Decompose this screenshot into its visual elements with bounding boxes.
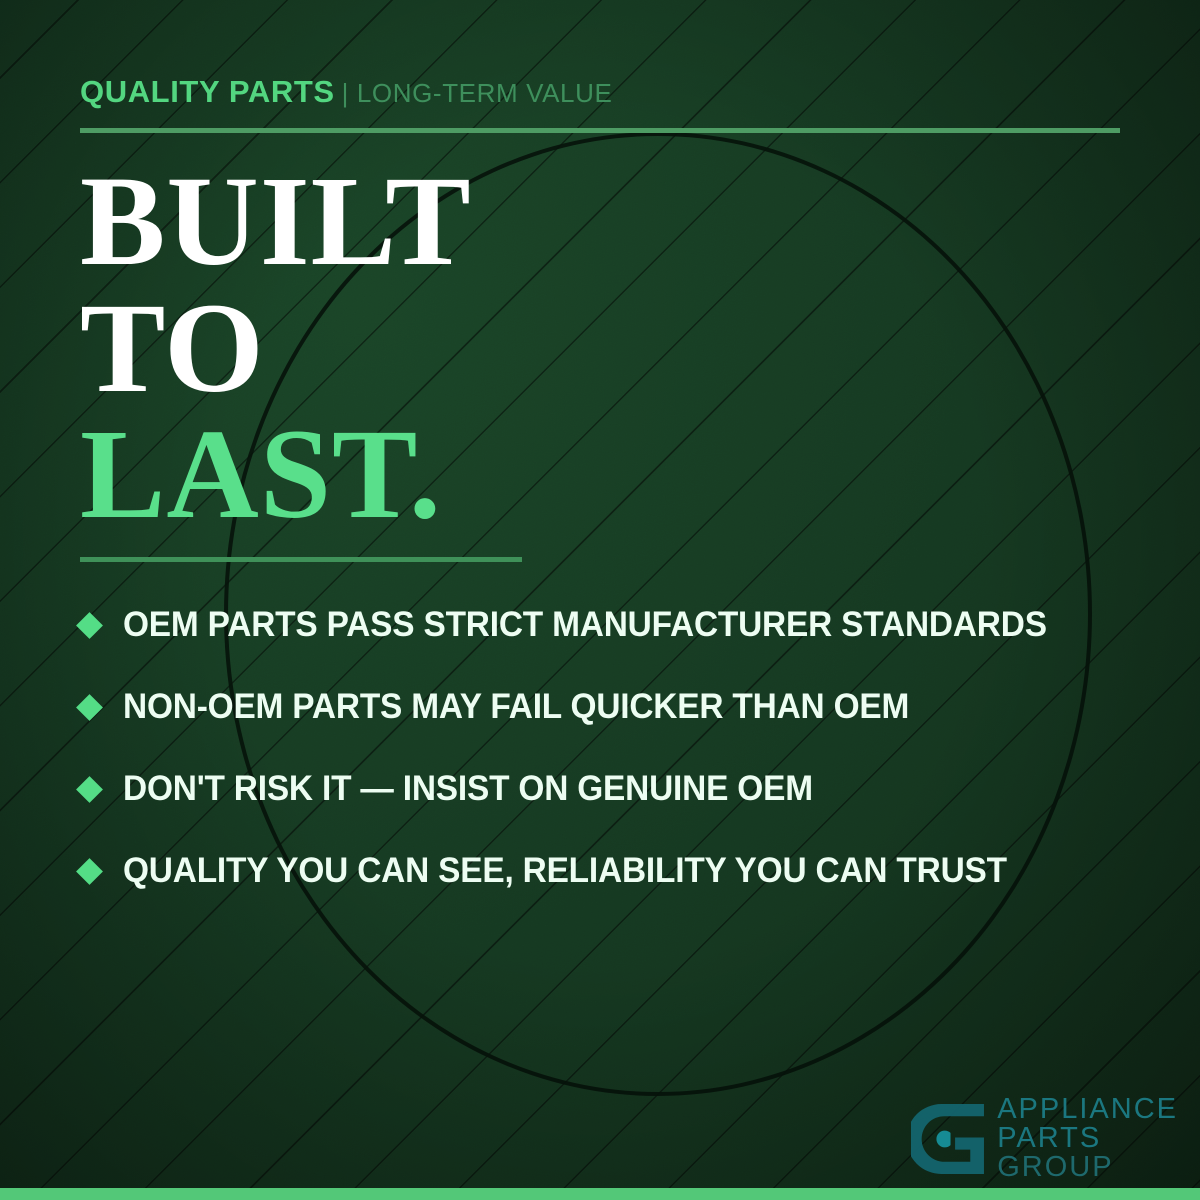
headline-line-1: BUILT xyxy=(80,158,472,285)
list-item: QUALITY YOU CAN SEE, RELIABILITY YOU CAN… xyxy=(80,830,1140,912)
list-item: OEM PARTS PASS STRICT MANUFACTURER STAND… xyxy=(80,584,1140,666)
kicker-line: QUALITY PARTS| LONG-TERM VALUE xyxy=(80,74,612,110)
brand-logo-wordmark: APPLIANCE PARTS GROUP xyxy=(997,1095,1178,1182)
diamond-icon xyxy=(76,612,103,639)
kicker-main-label: QUALITY PARTS xyxy=(80,74,335,109)
bottom-accent-bar xyxy=(0,1188,1200,1200)
headline-line-2: TO xyxy=(80,285,472,412)
list-item: NON-OEM PARTS MAY FAIL QUICKER THAN OEM xyxy=(80,666,1140,748)
list-item: DON'T RISK IT — INSIST ON GENUINE OEM xyxy=(80,748,1140,830)
diamond-icon xyxy=(76,858,103,885)
brand-logo: APPLIANCE PARTS GROUP xyxy=(911,1095,1178,1182)
brand-word-line-3: GROUP xyxy=(997,1153,1178,1182)
list-item-label: QUALITY YOU CAN SEE, RELIABILITY YOU CAN… xyxy=(123,851,1007,891)
brand-word-line-2: PARTS xyxy=(997,1124,1178,1153)
list-item-label: NON-OEM PARTS MAY FAIL QUICKER THAN OEM xyxy=(123,687,909,727)
diamond-icon xyxy=(76,776,103,803)
brand-word-line-1: APPLIANCE xyxy=(997,1095,1178,1124)
poster-canvas: QUALITY PARTS| LONG-TERM VALUE BUILT TO … xyxy=(0,0,1200,1200)
benefit-list: OEM PARTS PASS STRICT MANUFACTURER STAND… xyxy=(80,584,1140,912)
list-item-label: OEM PARTS PASS STRICT MANUFACTURER STAND… xyxy=(123,605,1047,645)
list-item-label: DON'T RISK IT — INSIST ON GENUINE OEM xyxy=(123,769,813,809)
headline-block: BUILT TO LAST. xyxy=(80,158,472,538)
diamond-icon xyxy=(76,694,103,721)
appliance-parts-group-g-mark xyxy=(911,1101,987,1177)
header-divider-rule xyxy=(80,128,1120,133)
headline-line-3: LAST. xyxy=(80,411,472,538)
kicker-sub-label: | LONG-TERM VALUE xyxy=(342,78,613,108)
headline-divider-rule xyxy=(80,557,522,562)
